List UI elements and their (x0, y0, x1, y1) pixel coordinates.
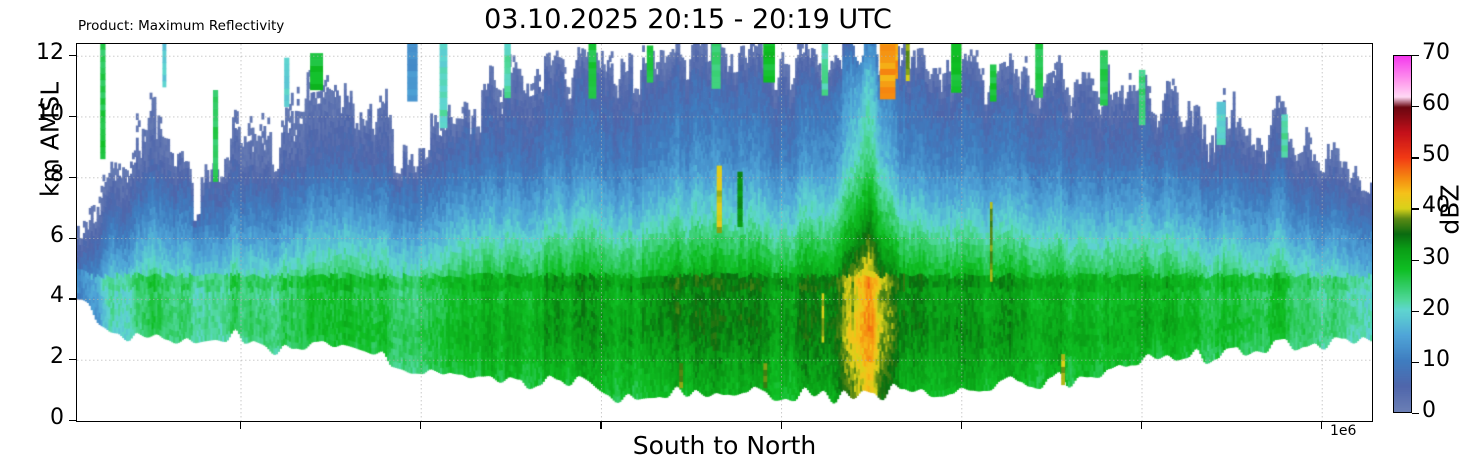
x-axis-label: South to North (76, 431, 1373, 460)
y-tick-label: 10 (36, 101, 64, 126)
colorbar-tick-label: 60 (1422, 91, 1450, 116)
colorbar-gradient (1394, 56, 1411, 412)
x-tick-mark (1321, 422, 1322, 429)
y-tick-mark (69, 298, 76, 299)
reflectivity-heatmap[interactable] (77, 44, 1372, 421)
x-tick-mark (420, 422, 421, 429)
x-axis-offset-label: 1e6 (1330, 423, 1356, 439)
figure-title: 03.10.2025 20:15 - 20:19 UTC (0, 4, 1376, 35)
x-tick-mark (961, 422, 962, 429)
y-tick-label: 4 (50, 283, 64, 308)
colorbar-label: dBZ (1436, 140, 1465, 280)
colorbar-tick-label: 20 (1422, 296, 1450, 321)
y-tick-label: 8 (50, 162, 64, 187)
y-tick-label: 2 (50, 344, 64, 369)
y-tick-mark (69, 116, 76, 117)
colorbar-tick-mark (1412, 208, 1419, 209)
y-tick-label: 6 (50, 223, 64, 248)
colorbar-tick-mark (1412, 55, 1419, 56)
colorbar-tick-mark (1412, 157, 1419, 158)
figure-root: Product: Maximum Reflectivity 03.10.2025… (0, 0, 1482, 470)
x-tick-mark (600, 422, 601, 429)
colorbar-tick-mark (1412, 413, 1419, 414)
y-tick-label: 12 (36, 40, 64, 65)
y-tick-label: 0 (50, 405, 64, 430)
x-tick-mark (240, 422, 241, 429)
y-tick-mark (69, 55, 76, 56)
colorbar-tick-mark (1412, 260, 1419, 261)
y-tick-mark (69, 420, 76, 421)
colorbar-tick-mark (1412, 311, 1419, 312)
x-tick-mark (781, 422, 782, 429)
colorbar-tick-label: 70 (1422, 40, 1450, 65)
colorbar[interactable] (1393, 55, 1412, 413)
y-tick-mark (69, 177, 76, 178)
y-tick-mark (69, 359, 76, 360)
y-tick-mark (69, 238, 76, 239)
colorbar-tick-mark (1412, 362, 1419, 363)
colorbar-tick-label: 10 (1422, 347, 1450, 372)
colorbar-tick-label: 0 (1422, 398, 1436, 423)
colorbar-tick-mark (1412, 106, 1419, 107)
plot-area[interactable] (76, 43, 1373, 422)
x-tick-mark (1141, 422, 1142, 429)
